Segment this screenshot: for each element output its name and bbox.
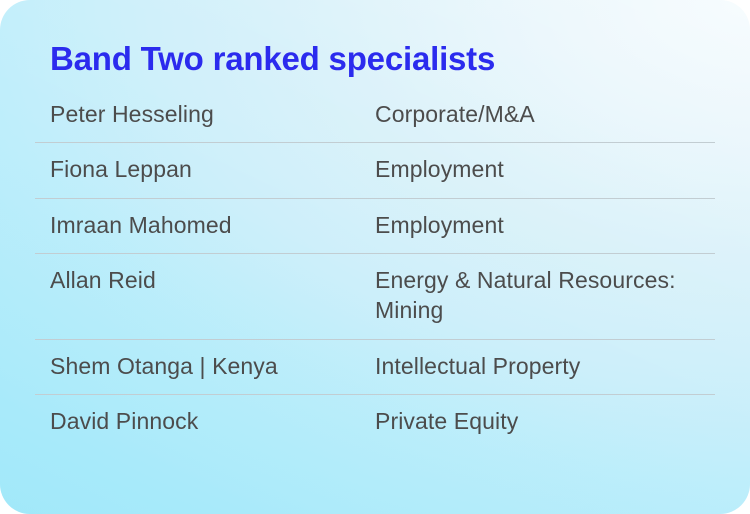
table-row: Allan Reid Energy & Natural Resources: M…: [35, 253, 715, 339]
table-row: Fiona Leppan Employment: [35, 142, 715, 197]
cell-practice-area: Energy & Natural Resources: Mining: [375, 265, 715, 326]
cell-specialist-name: Fiona Leppan: [35, 154, 375, 184]
card-content: Band Two ranked specialists Peter Hessel…: [0, 0, 750, 449]
cell-practice-area: Employment: [375, 210, 715, 240]
practice-area: Employment: [375, 210, 701, 240]
cell-specialist-name: David Pinnock: [35, 406, 375, 436]
cell-specialist-name: Peter Hesseling: [35, 99, 375, 129]
table-row: Peter Hesseling Corporate/M&A: [35, 94, 715, 142]
table-row: David Pinnock Private Equity: [35, 394, 715, 449]
table-row: Shem Otanga | Kenya Intellectual Propert…: [35, 339, 715, 394]
specialist-name: Shem Otanga | Kenya: [50, 351, 375, 381]
practice-area: Energy & Natural Resources: Mining: [375, 265, 701, 326]
practice-area: Employment: [375, 154, 701, 184]
cell-specialist-name: Shem Otanga | Kenya: [35, 351, 375, 381]
practice-area: Corporate/M&A: [375, 99, 701, 129]
specialist-name: Allan Reid: [50, 265, 375, 295]
cell-practice-area: Employment: [375, 154, 715, 184]
table-row: Imraan Mahomed Employment: [35, 198, 715, 253]
cell-practice-area: Private Equity: [375, 406, 715, 436]
specialist-name: Fiona Leppan: [50, 154, 375, 184]
practice-area: Intellectual Property: [375, 351, 701, 381]
cell-practice-area: Intellectual Property: [375, 351, 715, 381]
specialists-table: Peter Hesseling Corporate/M&A Fiona Lepp…: [32, 94, 718, 450]
page-title: Band Two ranked specialists: [32, 0, 718, 84]
cell-practice-area: Corporate/M&A: [375, 99, 715, 129]
cell-specialist-name: Imraan Mahomed: [35, 210, 375, 240]
practice-area: Private Equity: [375, 406, 701, 436]
specialist-name: David Pinnock: [50, 406, 375, 436]
specialist-name: Peter Hesseling: [50, 99, 375, 129]
cell-specialist-name: Allan Reid: [35, 265, 375, 295]
specialist-name: Imraan Mahomed: [50, 210, 375, 240]
ranked-specialists-card: Band Two ranked specialists Peter Hessel…: [0, 0, 750, 514]
